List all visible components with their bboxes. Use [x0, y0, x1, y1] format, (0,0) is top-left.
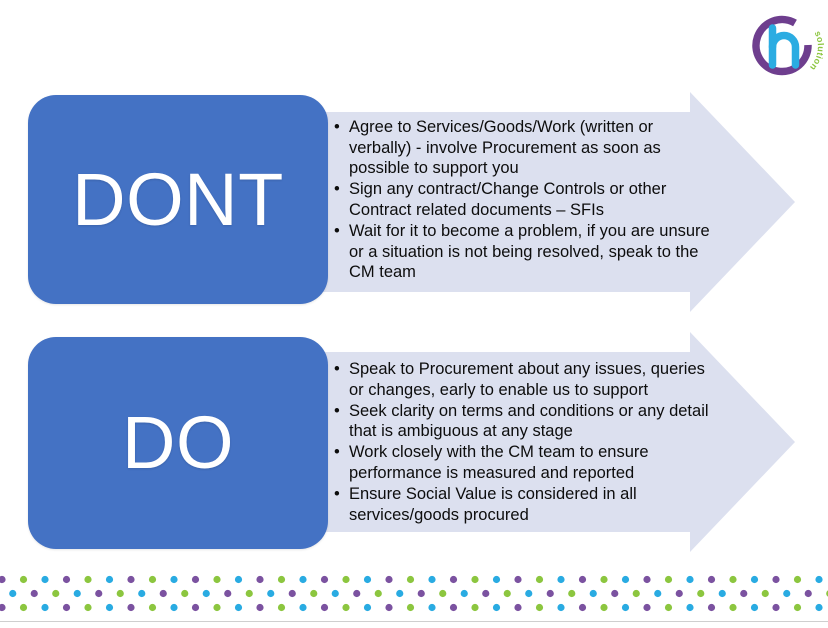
bullet-icon: • — [334, 484, 340, 505]
decorative-dot — [665, 576, 672, 583]
decorative-dot — [697, 590, 704, 597]
decorative-dot — [579, 576, 586, 583]
decorative-dot — [364, 576, 371, 583]
decorative-dot — [321, 604, 328, 611]
decorative-dot — [342, 576, 349, 583]
decorative-dot — [547, 590, 554, 597]
decorative-dot — [450, 576, 457, 583]
decorative-dot — [590, 590, 597, 597]
decorative-dot — [815, 604, 822, 611]
decorative-dot — [622, 576, 629, 583]
decorative-dot — [708, 604, 715, 611]
decorative-dot — [63, 576, 70, 583]
decorative-dot — [676, 590, 683, 597]
bullet-text: Speak to Procurement about any issues, q… — [349, 359, 713, 400]
decorative-dot — [772, 576, 779, 583]
dont-label-box: DONT — [28, 95, 328, 304]
decorative-dot — [41, 576, 48, 583]
decorative-dot — [536, 604, 543, 611]
decorative-dot — [762, 590, 769, 597]
decorative-dot — [52, 590, 59, 597]
decorative-dot — [611, 590, 618, 597]
logo-graphic: solutions — [748, 14, 824, 86]
decorative-dot — [493, 576, 500, 583]
decorative-dot — [439, 590, 446, 597]
decorative-dot — [160, 590, 167, 597]
do-bullet-list: • Speak to Procurement about any issues,… — [333, 359, 713, 526]
bullet-text: Work closely with the CM team to ensure … — [349, 442, 713, 483]
decorative-dot — [256, 576, 263, 583]
decorative-dot — [192, 604, 199, 611]
decorative-dot — [203, 590, 210, 597]
decorative-dot — [450, 604, 457, 611]
decorative-dot — [514, 604, 521, 611]
decorative-dot — [708, 576, 715, 583]
do-arrow-group: DO • Speak to Procurement about any issu… — [0, 330, 828, 558]
decorative-dot — [396, 590, 403, 597]
decorative-dot — [117, 590, 124, 597]
decorative-dot — [385, 604, 392, 611]
bullet-text: Wait for it to become a problem, if you … — [349, 221, 713, 283]
bullet-text: Agree to Services/Goods/Work (written or… — [349, 117, 713, 179]
decorative-dot — [278, 576, 285, 583]
decorative-dot — [213, 576, 220, 583]
decorative-dot — [654, 590, 661, 597]
decorative-dot — [20, 576, 27, 583]
decorative-dot — [299, 604, 306, 611]
decorative-dot — [246, 590, 253, 597]
decorative-dot — [729, 604, 736, 611]
decorative-dot — [579, 604, 586, 611]
decorative-dot — [686, 576, 693, 583]
dont-label-text: DONT — [72, 163, 284, 237]
decorative-dot — [643, 576, 650, 583]
bullet-icon: • — [334, 442, 340, 463]
decorative-dot — [267, 590, 274, 597]
decorative-dot — [375, 590, 382, 597]
decorative-dot — [643, 604, 650, 611]
decorative-dot — [729, 576, 736, 583]
list-item: • Work closely with the CM team to ensur… — [333, 442, 713, 483]
decorative-dot — [622, 604, 629, 611]
logo-purple-arc — [756, 20, 808, 72]
decorative-dot — [461, 590, 468, 597]
decorative-dot — [41, 604, 48, 611]
list-item: • Sign any contract/Change Controls or o… — [333, 179, 713, 220]
decorative-dot — [332, 590, 339, 597]
decorative-dot — [740, 590, 747, 597]
decorative-dot — [794, 576, 801, 583]
decorative-dot — [31, 590, 38, 597]
decorative-dot — [385, 576, 392, 583]
decorative-dot — [84, 576, 91, 583]
decorative-dot — [9, 590, 16, 597]
decorative-dot — [364, 604, 371, 611]
decorative-dot — [568, 590, 575, 597]
decorative-dot — [20, 604, 27, 611]
decorative-dot — [342, 604, 349, 611]
bullet-text: Ensure Social Value is considered in all… — [349, 484, 713, 525]
decorative-dot — [407, 576, 414, 583]
decorative-dot — [256, 604, 263, 611]
dont-arrow-group: DONT • Agree to Services/Goods/Work (wri… — [0, 88, 828, 316]
decorative-dot — [751, 576, 758, 583]
decorative-dot — [192, 576, 199, 583]
decorative-dot — [353, 590, 360, 597]
decorative-dot — [557, 576, 564, 583]
decorative-dot — [278, 604, 285, 611]
bullet-icon: • — [334, 117, 340, 138]
decorative-dot — [665, 604, 672, 611]
decorative-dot — [428, 576, 435, 583]
decorative-dot — [127, 576, 134, 583]
dot-band-graphic — [0, 574, 828, 618]
list-item: • Speak to Procurement about any issues,… — [333, 359, 713, 400]
do-label-box: DO — [28, 337, 328, 549]
decorative-dot — [170, 604, 177, 611]
h-solutions-logo: solutions — [748, 14, 824, 86]
decorative-dot — [213, 604, 220, 611]
decorative-dot — [289, 590, 296, 597]
dont-bullet-list: • Agree to Services/Goods/Work (written … — [333, 117, 713, 283]
bullet-text: Seek clarity on terms and conditions or … — [349, 401, 713, 442]
decorative-dot — [471, 604, 478, 611]
decorative-dot — [299, 576, 306, 583]
decorative-dot — [149, 576, 156, 583]
decorative-dot — [805, 590, 812, 597]
list-item: • Agree to Services/Goods/Work (written … — [333, 117, 713, 179]
decorative-dot — [127, 604, 134, 611]
decorative-dot-band — [0, 574, 828, 618]
decorative-dot — [428, 604, 435, 611]
bullet-text: Sign any contract/Change Controls or oth… — [349, 179, 713, 220]
decorative-dot — [493, 604, 500, 611]
decorative-dot — [321, 576, 328, 583]
decorative-dot — [63, 604, 70, 611]
decorative-dot — [74, 590, 81, 597]
decorative-dot — [557, 604, 564, 611]
decorative-dot — [407, 604, 414, 611]
decorative-dot — [235, 576, 242, 583]
decorative-dot — [170, 576, 177, 583]
bullet-icon: • — [334, 359, 340, 380]
decorative-dot — [149, 604, 156, 611]
bullet-icon: • — [334, 221, 340, 242]
list-item: • Wait for it to become a problem, if yo… — [333, 221, 713, 283]
decorative-dot — [95, 590, 102, 597]
decorative-dot — [686, 604, 693, 611]
decorative-dot — [600, 576, 607, 583]
list-item: • Ensure Social Value is considered in a… — [333, 484, 713, 525]
do-label-text: DO — [122, 406, 234, 480]
decorative-dot — [504, 590, 511, 597]
decorative-dot — [106, 576, 113, 583]
decorative-dot — [84, 604, 91, 611]
decorative-dot — [525, 590, 532, 597]
decorative-dot — [418, 590, 425, 597]
bullet-icon: • — [334, 401, 340, 422]
list-item: • Seek clarity on terms and conditions o… — [333, 401, 713, 442]
decorative-dot — [0, 604, 6, 611]
decorative-dot — [471, 576, 478, 583]
decorative-dot — [794, 604, 801, 611]
decorative-dot — [751, 604, 758, 611]
decorative-dot — [719, 590, 726, 597]
decorative-dot — [224, 590, 231, 597]
decorative-dot — [310, 590, 317, 597]
decorative-dot — [181, 590, 188, 597]
decorative-dot — [138, 590, 145, 597]
slide-canvas: solutions DONT • Agree to Services/Goods… — [0, 0, 828, 628]
decorative-dot — [482, 590, 489, 597]
bottom-divider — [0, 621, 828, 622]
decorative-dot — [633, 590, 640, 597]
decorative-dot — [783, 590, 790, 597]
decorative-dot — [235, 604, 242, 611]
decorative-dot — [0, 576, 6, 583]
decorative-dot — [815, 576, 822, 583]
decorative-dot — [772, 604, 779, 611]
decorative-dot — [536, 576, 543, 583]
decorative-dot — [106, 604, 113, 611]
decorative-dot — [514, 576, 521, 583]
bullet-icon: • — [334, 179, 340, 200]
decorative-dot — [600, 604, 607, 611]
